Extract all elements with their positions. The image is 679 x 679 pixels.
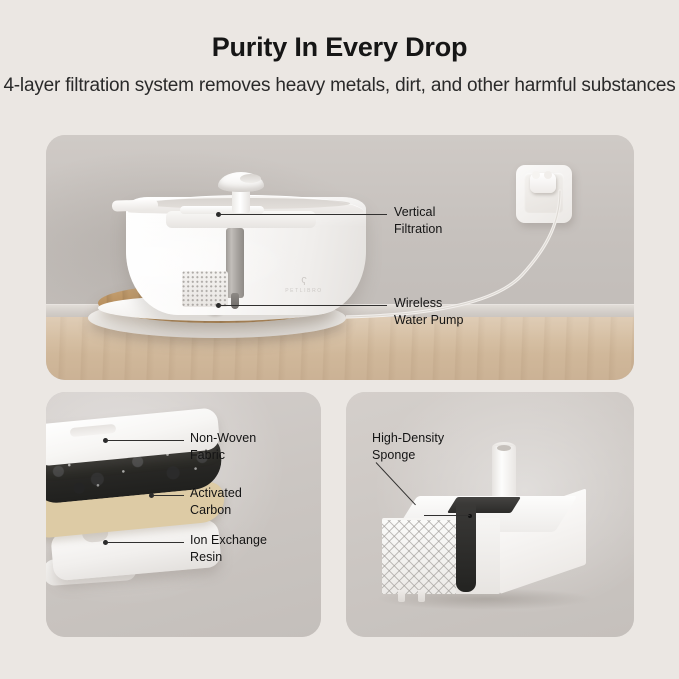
callout-line-ion-exchange-resin xyxy=(106,542,184,543)
water-fountain: ʕ PETLIBRO xyxy=(126,175,366,335)
callout-line-vertical-filtration xyxy=(219,214,387,215)
main-product-panel: ʕ PETLIBRO Vertical Filtration Wireless … xyxy=(46,135,634,380)
callout-line-activated-carbon xyxy=(152,495,184,496)
fountain-filter-tube xyxy=(226,228,244,298)
pump-foot-right xyxy=(418,590,425,602)
high-density-sponge xyxy=(456,504,476,592)
header: Purity In Every Drop 4-layer filtration … xyxy=(0,0,679,98)
pump-mesh-grid xyxy=(382,520,456,594)
pump-foot-left xyxy=(398,590,405,602)
brand-logo: ʕ PETLIBRO xyxy=(276,277,332,297)
brand-logo-text: PETLIBRO xyxy=(276,287,332,295)
callout-label-activated-carbon: Activated Carbon xyxy=(190,485,242,519)
filter-layers-panel: Non-Woven Fabric Activated Carbon Ion Ex… xyxy=(46,392,321,637)
power-plug-nub-left xyxy=(532,171,540,179)
fountain-grille xyxy=(182,271,228,307)
callout-line-non-woven-fabric xyxy=(106,440,184,441)
infographic-page: Purity In Every Drop 4-layer filtration … xyxy=(0,0,679,679)
callout-label-vertical-filtration: Vertical Filtration xyxy=(394,204,442,238)
power-plug-nub-right xyxy=(544,171,552,179)
callout-line-wireless-pump xyxy=(219,305,387,306)
page-subtitle: 4-layer filtration system removes heavy … xyxy=(0,73,679,98)
callout-line-sponge-horizontal xyxy=(424,515,470,516)
fountain-filter-tube-tip xyxy=(231,293,239,309)
callout-label-non-woven-fabric: Non-Woven Fabric xyxy=(190,430,256,464)
fountain-handle-lip xyxy=(112,199,158,211)
page-title: Purity In Every Drop xyxy=(0,33,679,63)
fountain-spout-notch xyxy=(240,174,261,183)
pump-tube-bore xyxy=(497,445,511,451)
brand-logo-mark: ʕ xyxy=(276,277,332,287)
fountain-spout xyxy=(218,173,264,213)
callout-label-wireless-pump: Wireless Water Pump xyxy=(394,295,464,329)
callout-label-high-density-sponge: High-Density Sponge xyxy=(372,430,444,464)
pump-module-panel: High-Density Sponge xyxy=(346,392,634,637)
callout-label-ion-exchange-resin: Ion Exchange Resin xyxy=(190,532,267,566)
